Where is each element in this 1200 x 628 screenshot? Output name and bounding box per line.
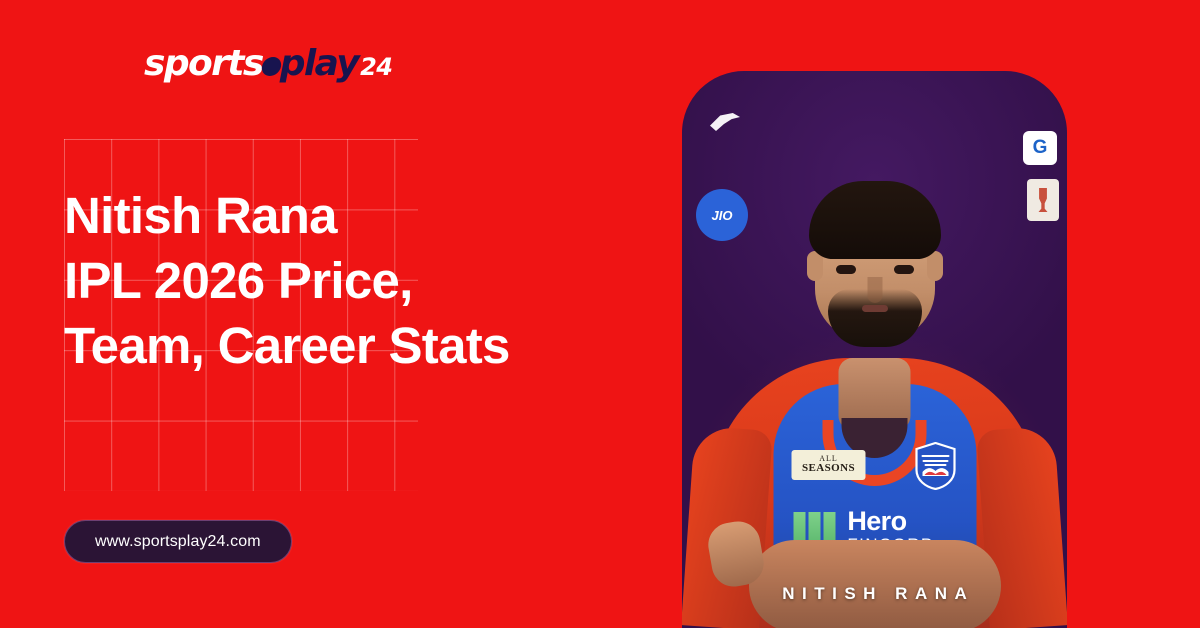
headline-line-3: Team, Career Stats <box>64 314 664 379</box>
logo-24-text: 24 <box>360 55 392 79</box>
website-url-label: www.sportsplay24.com <box>95 533 261 551</box>
player-hair <box>809 181 941 259</box>
sponsor-main-text: Hero <box>847 508 933 536</box>
player-mouth <box>862 305 888 312</box>
headline-line-2: IPL 2026 Price, <box>64 249 664 314</box>
patch-line-2: SEASONS <box>802 463 855 474</box>
sleeve-badge-right: G <box>1023 131 1057 165</box>
headline-line-1: Nitish Rana <box>64 184 664 249</box>
trophy-icon <box>1036 188 1050 212</box>
site-logo[interactable]: sports play 24 <box>144 42 393 86</box>
player-eye-right <box>894 265 914 274</box>
puma-logo-icon <box>710 113 740 131</box>
player-name-caption: NITISH RANA <box>682 584 1067 604</box>
logo-sports-text: sports <box>144 46 263 82</box>
sleeve-badge-left: JIO <box>696 189 748 241</box>
sleeve-badge-trophy <box>1027 179 1059 221</box>
player-figure: ALL SEASONS Hero FINCORP JIO <box>682 71 1067 628</box>
delhi-capitals-logo-icon <box>914 442 956 490</box>
jersey-all-seasons-patch: ALL SEASONS <box>792 450 866 480</box>
player-photo-card: ALL SEASONS Hero FINCORP JIO <box>682 71 1067 628</box>
logo-play-text: play <box>280 46 358 82</box>
website-url-pill[interactable]: www.sportsplay24.com <box>64 520 292 563</box>
page-title: Nitish Rana IPL 2026 Price, Team, Career… <box>64 184 664 378</box>
player-nose <box>867 277 882 303</box>
promo-banner: sports play 24 Nitish Rana IPL 2026 Pric… <box>0 0 1200 628</box>
player-eye-left <box>836 265 856 274</box>
site-logo-wordmark: sports play 24 <box>144 46 393 82</box>
